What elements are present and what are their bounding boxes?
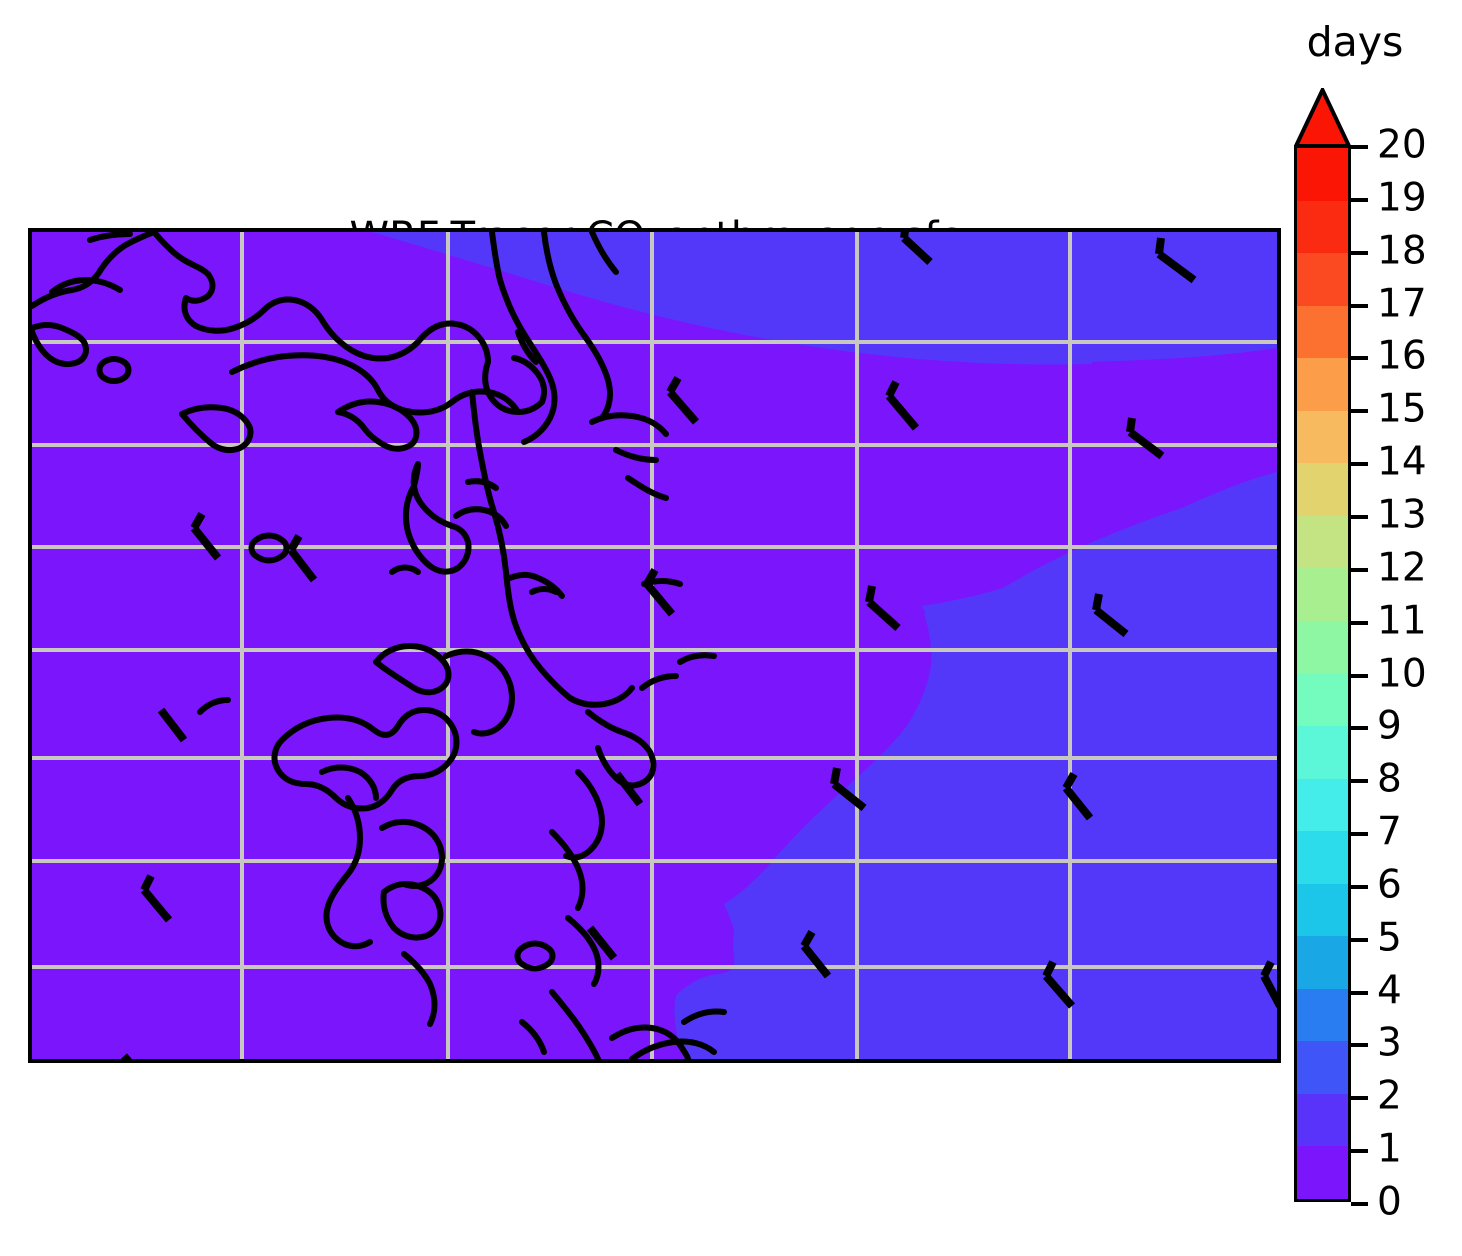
colorbar-tick-mark	[1351, 991, 1368, 995]
colorbar-tick-mark	[1351, 462, 1368, 466]
figure-canvas: WRF-Tracer CO_anthro_age sfc Init 2024-0…	[0, 0, 1462, 1256]
colorbar-tick-label: 12	[1377, 548, 1427, 587]
colorbar-tick-mark	[1351, 409, 1368, 413]
colorbar-gradient	[1294, 145, 1351, 1202]
colorbar-tick-mark	[1351, 938, 1368, 942]
colorbar-band-4	[1297, 358, 1348, 411]
colorbar-tick-mark	[1351, 568, 1368, 572]
colorbar-tick-mark	[1351, 515, 1368, 519]
colorbar-band-7	[1297, 516, 1348, 569]
colorbar-tick-mark	[1351, 1149, 1368, 1153]
colorbar-tick-mark	[1351, 198, 1368, 202]
colorbar-band-5	[1297, 411, 1348, 464]
colorbar-extend-arrow-icon	[1294, 88, 1351, 146]
colorbar-tick-mark	[1351, 356, 1368, 360]
colorbar-band-13	[1297, 831, 1348, 884]
colorbar-band-19	[1297, 1146, 1348, 1199]
colorbar-band-9	[1297, 621, 1348, 674]
colorbar-tick-mark	[1351, 251, 1368, 255]
colorbar-ticks: 20191817161514131211109876543210	[1351, 145, 1451, 1202]
colorbar-tick-label: 11	[1377, 601, 1427, 640]
colorbar-units-label: days	[1290, 18, 1420, 66]
colorbar-tick-mark	[1351, 621, 1368, 625]
colorbar-tick-label: 9	[1377, 707, 1402, 746]
colorbar-band-11	[1297, 726, 1348, 779]
colorbar-band-8	[1297, 568, 1348, 621]
colorbar-tick-mark	[1351, 145, 1368, 149]
colorbar-tick-label: 2	[1377, 1077, 1402, 1116]
colorbar-tick-label: 20	[1377, 126, 1427, 165]
colorbar-tick-label: 14	[1377, 443, 1427, 482]
colorbar-tick-label: 4	[1377, 971, 1402, 1010]
colorbar-tick-label: 3	[1377, 1024, 1402, 1063]
colorbar-band-3	[1297, 306, 1348, 359]
colorbar-tick-mark	[1351, 1202, 1368, 1206]
colorbar-tick-mark	[1351, 1096, 1368, 1100]
colorbar-tick-mark	[1351, 832, 1368, 836]
colorbar-tick-label: 15	[1377, 390, 1427, 429]
colorbar-tick-label: 17	[1377, 284, 1427, 323]
map-svg	[32, 232, 1277, 1059]
colorbar-tick-mark	[1351, 726, 1368, 730]
map-inner	[32, 232, 1277, 1059]
colorbar-tick-label: 5	[1377, 918, 1402, 957]
colorbar-band-18	[1297, 1094, 1348, 1147]
colorbar-tick-label: 0	[1377, 1183, 1402, 1222]
colorbar-band-16	[1297, 989, 1348, 1042]
colorbar-band-10	[1297, 673, 1348, 726]
colorbar-tick-mark	[1351, 304, 1368, 308]
colorbar-tick-label: 16	[1377, 337, 1427, 376]
colorbar-band-14	[1297, 884, 1348, 937]
colorbar-tick-mark	[1351, 779, 1368, 783]
colorbar: days 20191817161514131211109876543210	[1294, 88, 1454, 1204]
colorbar-band-17	[1297, 1041, 1348, 1094]
colorbar-tick-label: 10	[1377, 654, 1427, 693]
colorbar-tick-label: 1	[1377, 1130, 1402, 1169]
colorbar-band-1	[1297, 201, 1348, 254]
colorbar-tick-mark	[1351, 885, 1368, 889]
colorbar-tick-mark	[1351, 674, 1368, 678]
colorbar-tick-label: 13	[1377, 495, 1427, 534]
colorbar-tick-label: 19	[1377, 178, 1427, 217]
map-plot-area	[28, 228, 1281, 1063]
colorbar-tick-label: 6	[1377, 865, 1402, 904]
colorbar-tick-mark	[1351, 1043, 1368, 1047]
colorbar-band-12	[1297, 779, 1348, 832]
colorbar-band-6	[1297, 463, 1348, 516]
colorbar-band-2	[1297, 253, 1348, 306]
colorbar-tick-label: 18	[1377, 231, 1427, 270]
colorbar-band-15	[1297, 936, 1348, 989]
colorbar-tick-label: 8	[1377, 760, 1402, 799]
colorbar-band-0	[1297, 148, 1348, 201]
colorbar-tick-label: 7	[1377, 813, 1402, 852]
